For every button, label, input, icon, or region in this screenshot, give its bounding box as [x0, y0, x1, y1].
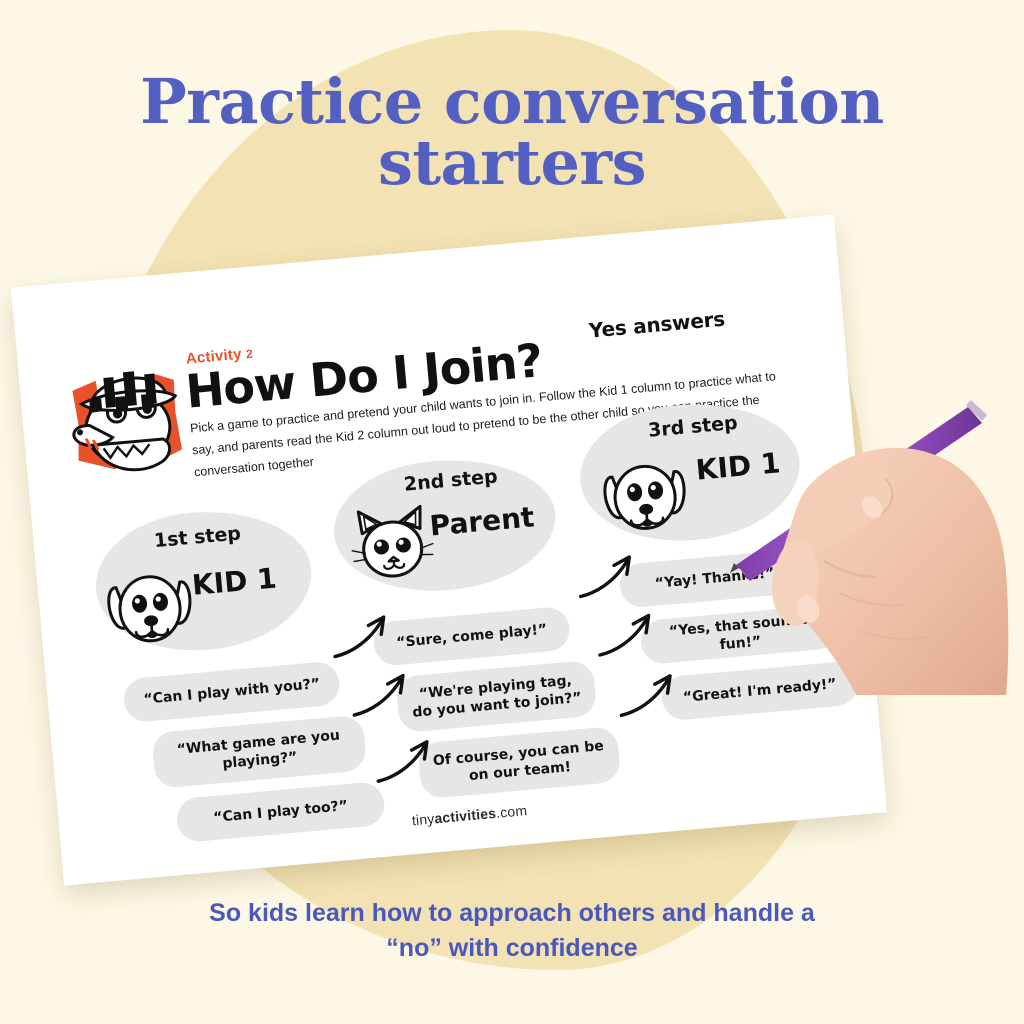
speech-bubble: Of course, you can be on our team! [417, 726, 621, 800]
role-label-2: Parent [428, 500, 535, 542]
curved-arrow-icon [592, 605, 667, 667]
step-label-1: 1st step [153, 522, 242, 552]
role-label-3: KID 1 [694, 446, 781, 486]
footer-prefix: tiny [411, 810, 435, 828]
speech-bubble: “Sure, come play!” [372, 606, 571, 667]
speech-bubble: “What game are you playing?” [151, 714, 367, 789]
curved-arrow-icon [573, 547, 648, 609]
worksheet-sheet: Activity 2 How Do I Join? Yes answers Pi… [11, 214, 887, 885]
step-label-3: 3rd step [647, 412, 738, 442]
footer-bold: activities [434, 805, 497, 826]
role-label-1: KID 1 [191, 562, 278, 602]
step-label-2: 2nd step [403, 465, 498, 495]
speech-bubble: “Can I play with you?” [122, 660, 341, 723]
speech-bubble: “Yes, that sounds fun!” [639, 604, 840, 665]
worksheet-footer-logo: tinyactivities.com [411, 802, 528, 828]
yes-answers-label: Yes answers [588, 307, 726, 343]
cat-face-icon [346, 499, 439, 586]
dog-face-icon [100, 559, 199, 653]
page-caption: So kids learn how to approach others and… [0, 896, 1024, 965]
footer-suffix: .com [495, 802, 527, 821]
page-title: Practice conversation starters [0, 72, 1024, 194]
curved-arrow-icon [327, 607, 402, 669]
page-caption-line-2: “no” with confidence [0, 931, 1024, 966]
speech-bubble: “Great! I'm ready!” [660, 660, 859, 721]
page-title-line-2: starters [0, 133, 1024, 194]
crocodile-mascot-icon [60, 351, 194, 484]
column-header-1: 1st step KID 1 [90, 503, 317, 660]
page-caption-line-1: So kids learn how to approach others and… [209, 899, 815, 927]
dog-face-icon [596, 449, 693, 541]
curved-arrow-icon [346, 665, 421, 727]
worksheet-paper: Activity 2 How Do I Join? Yes answers Pi… [11, 214, 887, 885]
curved-arrow-icon [370, 732, 445, 794]
speech-bubble: “We're playing tag, do you want to join?… [395, 660, 597, 733]
curved-arrow-icon [613, 666, 688, 728]
column-header-2: 2nd step Parent [328, 451, 561, 600]
speech-bubble: “Can I play too?” [175, 781, 386, 843]
